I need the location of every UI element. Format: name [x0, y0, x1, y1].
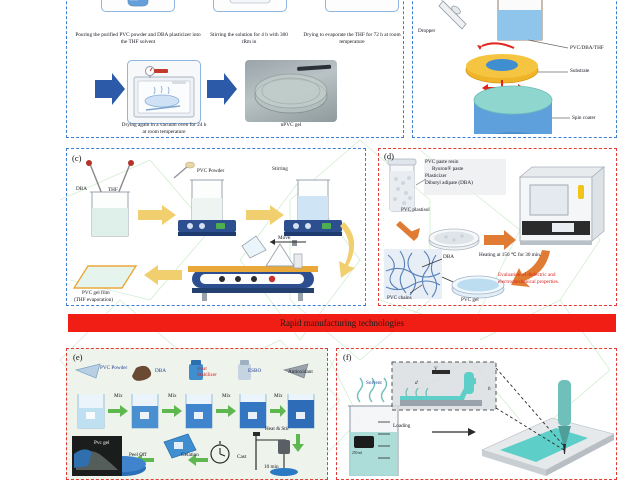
panel-c-label-move: Move [278, 235, 290, 241]
panel-d-textbox-line3: Plasticizer [425, 173, 473, 180]
panel-a-caption-2: Stirring the solution for 4 h with 300 r… [205, 32, 293, 46]
beaker-icon-b [496, 0, 549, 40]
arrow-right-4 [206, 72, 238, 106]
panel-b-spincoater-diagram [418, 0, 614, 134]
petri-dish-icon [326, 0, 398, 11]
panel-b-label-solution: PVC/DBA/THF [570, 45, 604, 51]
hotplate-c2 [284, 180, 342, 236]
panel-a-caption-1: Pouring the purified PVC powder and DBA … [73, 32, 203, 46]
dropper-icon [434, 0, 466, 29]
panel-d-textbox-line1: PVC paste resin [425, 159, 473, 166]
panel-e-ing-antioxidant: Antioxidant [288, 369, 313, 375]
oven-icon [520, 167, 604, 245]
timer-icon [211, 441, 229, 463]
panel-d-label-plastisol: PVC plastisol [401, 207, 430, 213]
panel-e-timer: 10 min [264, 464, 279, 470]
pvc-gel-dish-icon [452, 276, 504, 298]
panel-e-heat-stir: Heat & Stir [265, 426, 289, 432]
panel-e-ing-esbo: ESBO [248, 368, 261, 374]
panel-d-label-evaluation: Evaluation of dielectric and electromech… [498, 272, 570, 286]
panel-e-peel-off: Peel Off [129, 452, 146, 458]
banner-text: Rapid manufacturing technologies [280, 318, 404, 328]
vacuum-oven-icon [128, 61, 200, 123]
panel-e-mix-1: Mix [114, 393, 123, 399]
figure-root: THF 300 rRmin Solution Pouring the purif… [0, 0, 630, 472]
panel-a-caption-4: Drying again in a vacuum oven for 24 h a… [120, 122, 208, 136]
solvent-beaker-icon [348, 406, 400, 476]
rapid-manufacturing-banner: Rapid manufacturing technologies [68, 314, 616, 332]
beaker-icon [102, 0, 174, 11]
panel-e-label: (e) [73, 352, 82, 362]
panel-d-textbox-line4: Dibutyl adipate (DBA) [425, 180, 473, 187]
magnetic-stirrer-icon [214, 0, 286, 11]
arrow-yellow-c1 [138, 205, 176, 225]
panel-f-printing-diagram [340, 358, 614, 476]
panel-e-ing-pvc-powder-text: PVC Powder [100, 365, 127, 371]
panel-c-label-film-sub: (THF evaporation) [74, 297, 113, 303]
beaker-c1 [90, 192, 130, 236]
panel-c-label: (c) [72, 153, 81, 163]
panel-a-step1-card: THF [101, 0, 175, 12]
panel-c-label-stirring: Stirring [272, 166, 288, 172]
panel-d-label-heating: Heating at 150 ℃ for 30 min. [479, 252, 541, 258]
arrow-right-3 [94, 72, 126, 106]
film-caster-icon [188, 236, 318, 301]
inset-substrate [400, 400, 482, 406]
panel-f-inset-symbol-v: V [434, 366, 437, 372]
panel-a-step3-card: Solution [325, 0, 399, 12]
panel-c-label-thf: THF [108, 187, 118, 193]
panel-c-label-pvc-powder: PVC Powder [197, 168, 224, 174]
panel-a-caption-5: nPVC gel [261, 122, 321, 129]
panel-b-label-spincoater: Spin coater [572, 115, 595, 121]
panel-f-label-volume: 250 ml [352, 451, 362, 455]
panel-e-cast: Cast [237, 454, 246, 460]
panel-d-textbox: PVC paste resin Ryuron® paste Plasticize… [425, 159, 473, 187]
panel-b-label-dropper: Dropper [418, 28, 435, 34]
panel-a-step2-card: 300 rRmin [213, 0, 287, 12]
panel-d-label-chains: PVC chains [387, 295, 412, 301]
panel-a-step5-photo [245, 60, 337, 122]
panel-f-label: (f) [343, 352, 352, 362]
panel-a-caption-3: Drying to evaporate the THF for 72 h at … [302, 32, 402, 46]
panel-e-mix-2: Mix [168, 393, 177, 399]
panel-e-ing-pvc-powder: PVC Powder [100, 366, 127, 372]
panel-c-casting-diagram [70, 158, 362, 302]
panel-c-label-film: PVC gel film [82, 290, 110, 296]
resin-vial-icon [388, 159, 416, 211]
panel-e-gelation: Gelation [181, 452, 199, 458]
panel-a-step4-card [127, 60, 201, 124]
arrow-yellow-c2 [246, 205, 284, 225]
panel-d-label-gel: PVC gel [461, 297, 479, 303]
panel-e-mix-3: Mix [222, 393, 231, 399]
panel-d-textbox-line2: Ryuron® paste [425, 166, 473, 173]
panel-f-inset-symbol-d: d [415, 380, 418, 386]
panel-f-inset-symbol-h: h [488, 386, 491, 392]
petri-dish-photo [245, 60, 337, 122]
panel-a [66, 0, 404, 138]
substrate-plate-icon [482, 418, 614, 476]
pvc-gel-film-icon [74, 266, 136, 288]
panel-c-label-dba: DBA [76, 186, 87, 192]
panel-e-pvc-gel: Pvc gel [94, 440, 109, 446]
arrow-yellow-c3 [144, 265, 182, 285]
substrate-icon [466, 54, 538, 83]
panel-e-ing-dba: DBA [155, 368, 166, 374]
panel-d-label: (d) [384, 151, 394, 161]
panel-d-label-dba: DBA [443, 254, 454, 260]
panel-e-mix-4: Mix [274, 393, 283, 399]
panel-b-label-substrate: Substrate [570, 68, 589, 74]
panel-f-label-solvent: Solvent [366, 380, 382, 386]
panel-f-label-loading: Loading [393, 423, 410, 429]
panel-e-ing-heat-stabilizer: Heat Stabilizer [197, 367, 223, 379]
spin-coater-icon [474, 86, 552, 134]
plastisol-dish-icon [429, 229, 479, 250]
